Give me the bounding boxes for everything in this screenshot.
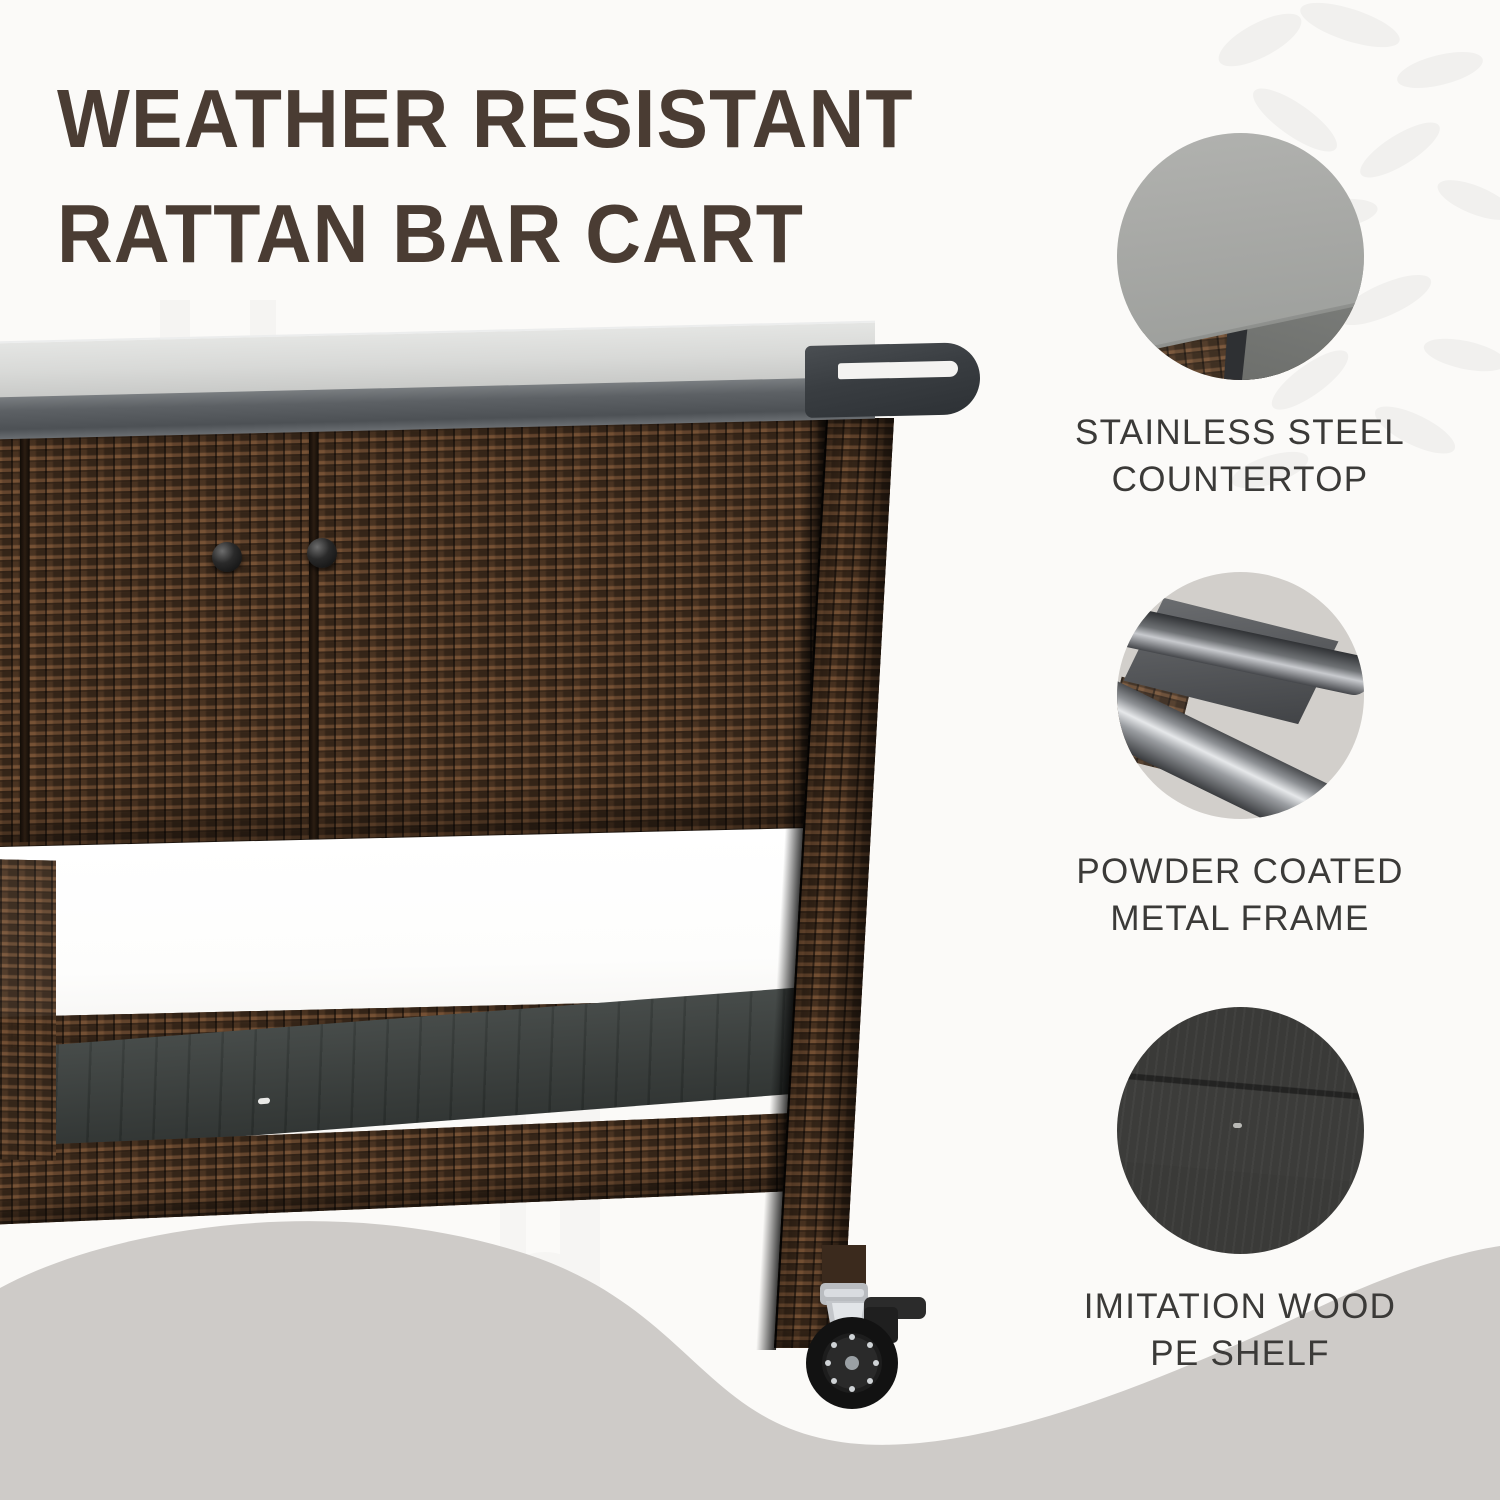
feature-stainless-steel-countertop: STAINLESS STEEL COUNTERTOP: [1005, 133, 1475, 503]
feature-powder-coated-metal-frame: POWDER COATED METAL FRAME: [1005, 572, 1475, 942]
stainless-steel-countertop-closeup-icon: [1117, 133, 1364, 380]
countertop-handle-rail: [805, 342, 980, 418]
cabinet-door-seam-left: [20, 422, 29, 842]
countertop-handle-gap: [838, 361, 958, 380]
feature-caption: POWDER COATED METAL FRAME: [1005, 849, 1475, 942]
imitation-wood-pe-shelf-closeup-icon: [1117, 1007, 1364, 1254]
feature-caption: STAINLESS STEEL COUNTERTOP: [1005, 410, 1475, 503]
powder-coated-metal-frame-closeup-icon: [1117, 572, 1364, 819]
feature-caption: IMITATION WOOD PE SHELF: [1005, 1284, 1475, 1377]
feature-imitation-wood-pe-shelf: IMITATION WOOD PE SHELF: [1005, 1007, 1475, 1377]
cabinet-body: [0, 399, 850, 852]
product-feature-banner: WEATHER RESISTANT RATTAN BAR CART: [0, 0, 1500, 1500]
door-knob-right[interactable]: [307, 538, 337, 568]
shelf-highlight: [258, 1098, 270, 1105]
door-knob-left[interactable]: [212, 542, 242, 572]
page-title: WEATHER RESISTANT RATTAN BAR CART: [57, 62, 987, 291]
leg-left: [0, 859, 56, 1160]
cabinet-door-seam-right: [309, 422, 318, 842]
